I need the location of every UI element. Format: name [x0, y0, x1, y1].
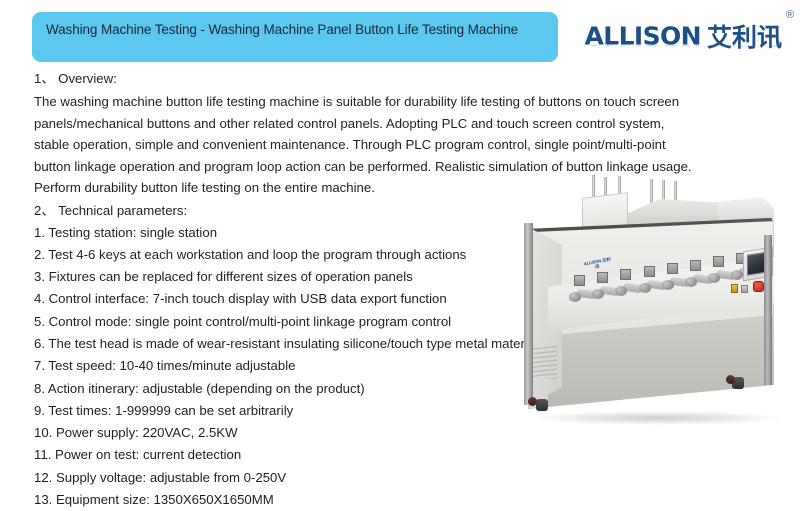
brand-name-chinese: 艾利讯 [707, 24, 782, 52]
station-indicator-icon [620, 269, 631, 280]
overview-heading: 1、 Overview: [34, 68, 774, 90]
page-title-banner: Washing Machine Testing - Washing Machin… [32, 12, 558, 62]
product-photo: ALLISON 艾利讯 [506, 175, 798, 443]
technical-parameter-item: 11. Power on test: current detection [34, 444, 774, 466]
station-knob[interactable] [639, 283, 651, 293]
caster-wheel [536, 399, 548, 411]
frame-post-right [764, 235, 772, 385]
station-knob[interactable] [592, 289, 604, 299]
station-indicator-icon [690, 260, 701, 271]
station-knob[interactable] [731, 270, 743, 280]
frame-post-left [524, 223, 533, 405]
photo-floor-shadow [532, 411, 782, 425]
station-knob[interactable] [708, 273, 720, 283]
station-knob[interactable] [685, 277, 697, 287]
page-title: Washing Machine Testing - Washing Machin… [46, 19, 544, 40]
station-indicator-icon [667, 263, 678, 274]
ventilation-louvers [531, 345, 557, 379]
leveling-foot [726, 375, 735, 384]
registered-trademark-icon: ® [786, 9, 794, 21]
brand-logo: ALLISON艾利讯 ® [582, 18, 782, 66]
technical-parameter-item: 12. Supply voltage: adjustable from 0-25… [34, 467, 774, 489]
station-indicator-icon [713, 256, 724, 267]
page-root: Washing Machine Testing - Washing Machin… [0, 0, 800, 450]
brand-logo-row: ALLISON艾利讯 ® [584, 18, 782, 54]
indicator-lamp-icon [732, 285, 737, 292]
emergency-stop-button[interactable] [754, 282, 763, 291]
technical-parameter-item: 13. Equipment size: 1350X650X1650MM [34, 489, 774, 511]
station-knob[interactable] [569, 292, 581, 302]
station-knob[interactable] [615, 286, 627, 296]
station-indicator-icon [597, 272, 608, 283]
selector-switch-icon [742, 286, 747, 292]
station-indicator-icon [644, 266, 655, 277]
leveling-foot [528, 397, 537, 406]
station-indicator-icon [574, 275, 585, 286]
brand-name-latin: ALLISON [584, 22, 701, 51]
station-knob[interactable] [662, 280, 674, 290]
